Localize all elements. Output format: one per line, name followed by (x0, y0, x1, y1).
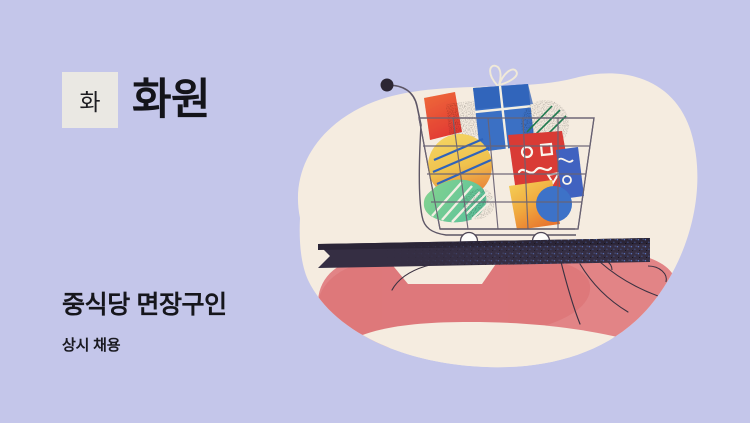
brand-lockup: 화 화원 (62, 72, 210, 128)
brand-name: 화원 (132, 79, 210, 122)
subline: 상시 채용 (62, 338, 120, 355)
headline: 중식당 면장구인 (62, 292, 227, 320)
brand-mark-badge: 화 (62, 72, 118, 128)
text-layer: 화 화원 중식당 면장구인 상시 채용 (0, 0, 750, 423)
promo-banner: 화 화원 중식당 면장구인 상시 채용 (0, 0, 750, 423)
